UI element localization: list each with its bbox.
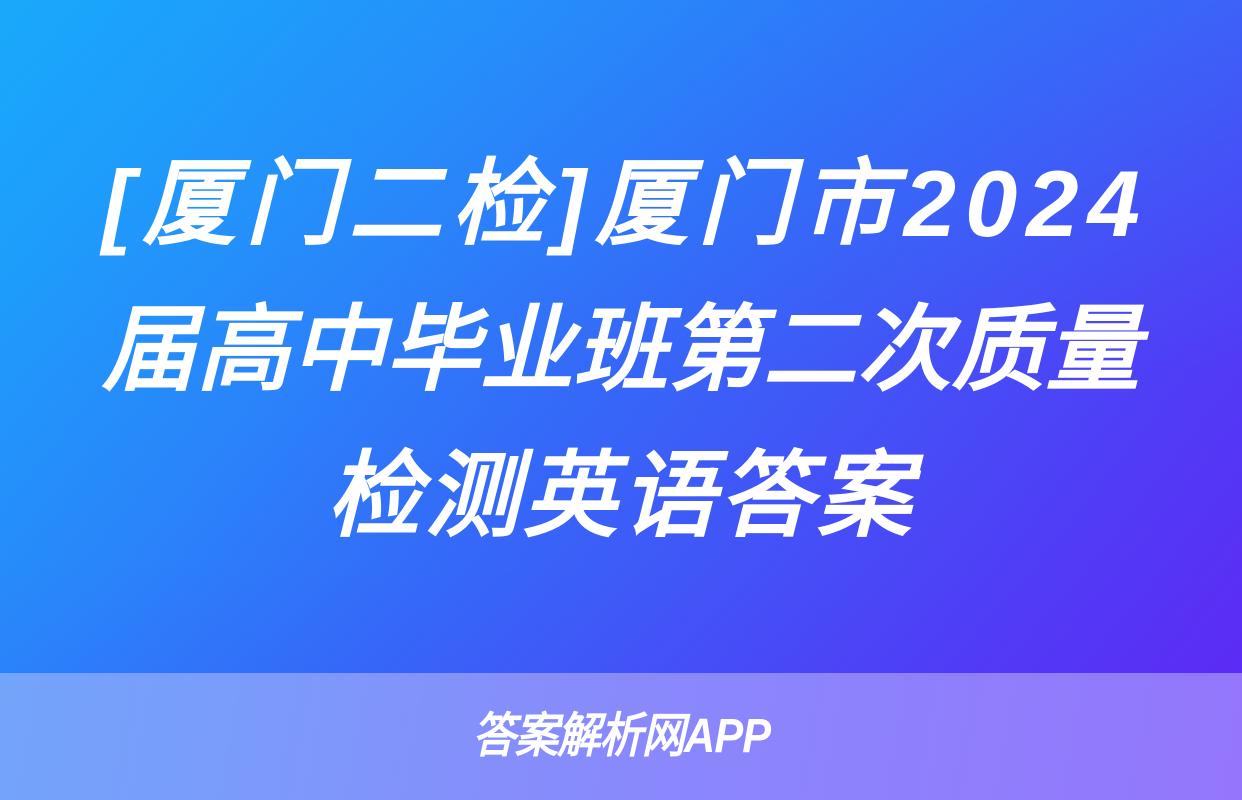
title-line-3-text: 检测英语答案 bbox=[327, 423, 915, 569]
title-line-1: [厦门二检]厦门市2024 bbox=[102, 131, 1140, 277]
title-line-3: 检测英语答案 bbox=[102, 423, 1140, 569]
title-char: 班 bbox=[574, 277, 668, 423]
title-char: 中 bbox=[291, 277, 385, 423]
title-line-2-text: 届高中毕业班第二次质量 bbox=[102, 277, 1140, 423]
watermark-band: 答案解析网APP bbox=[0, 673, 1242, 800]
title-char: 量 bbox=[1046, 277, 1140, 423]
title-char: 4 bbox=[1088, 131, 1140, 277]
title-char: 2 bbox=[1026, 131, 1078, 277]
promo-card: [厦门二检]厦门市2024 届高中毕业班第二次质量 检测英语答案 答案解析网AP… bbox=[0, 0, 1242, 800]
title-char: 第 bbox=[668, 277, 762, 423]
title-char: 届 bbox=[102, 277, 196, 423]
title-char: 厦 bbox=[142, 131, 236, 277]
title-char: 质 bbox=[952, 277, 1046, 423]
title-char: 厦 bbox=[595, 131, 689, 277]
title-char: 门 bbox=[245, 131, 339, 277]
title-line-1-text: [厦门二检]厦门市2024 bbox=[102, 131, 1140, 277]
title-char: 门 bbox=[698, 131, 792, 277]
title-char: [ bbox=[102, 131, 133, 277]
title-char: 高 bbox=[196, 277, 290, 423]
title-char: 0 bbox=[965, 131, 1017, 277]
title-char: 二 bbox=[763, 277, 857, 423]
title-char: 二 bbox=[348, 131, 442, 277]
title-char: 毕 bbox=[385, 277, 479, 423]
title-block: [厦门二检]厦门市2024 届高中毕业班第二次质量 检测英语答案 bbox=[0, 0, 1242, 673]
title-char: 2 bbox=[904, 131, 956, 277]
title-char: 次 bbox=[857, 277, 951, 423]
title-char: 业 bbox=[480, 277, 574, 423]
title-char: ] bbox=[554, 131, 585, 277]
title-char: 检 bbox=[451, 131, 545, 277]
title-line-2: 届高中毕业班第二次质量 bbox=[102, 277, 1140, 423]
title-char: 市 bbox=[801, 131, 895, 277]
watermark-label: 答案解析网APP bbox=[472, 711, 770, 763]
